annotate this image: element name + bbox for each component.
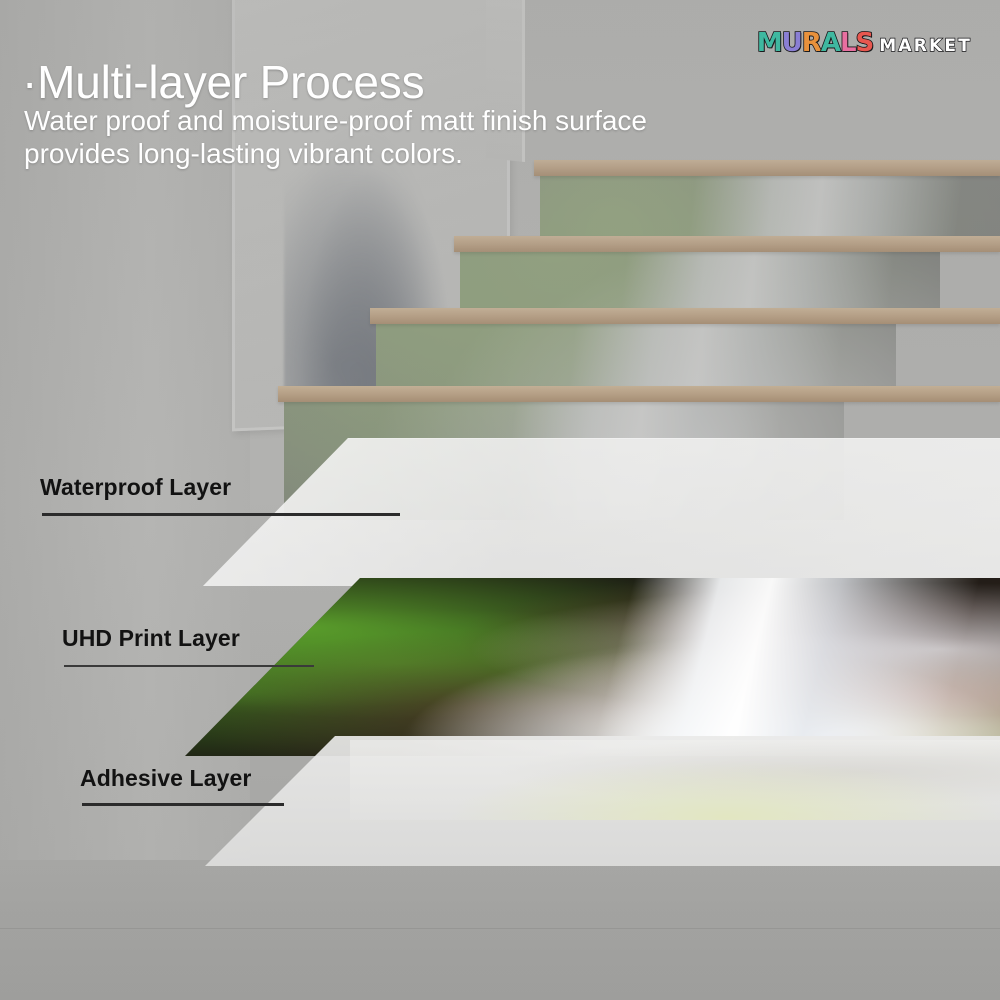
brand-logo-murals: MURALS (757, 30, 873, 56)
logo-letter-2: R (802, 30, 821, 56)
promo-graphic: Waterproof Layer UHD Print Layer Adhesiv… (0, 0, 1000, 1000)
logo-letter-1: U (782, 30, 802, 56)
page-subtitle: Water proof and moisture-proof matt fini… (24, 104, 647, 170)
page-title: ·Multi-layer Process (22, 55, 424, 109)
logo-letter-3: A (821, 30, 840, 56)
logo-letter-0: M (757, 30, 782, 56)
logo-letter-4: L (840, 30, 856, 56)
layer-rule-uhd-print (64, 665, 314, 667)
subtitle-line-2: provides long-lasting vibrant colors. (24, 137, 647, 170)
brand-logo-market: MARKET (879, 36, 972, 56)
adhesive-sheen (350, 740, 1000, 820)
logo-letter-5: S (856, 30, 874, 56)
subtitle-line-1: Water proof and moisture-proof matt fini… (24, 104, 647, 137)
brand-logo[interactable]: MURALS MARKET (757, 30, 972, 56)
layer-rule-adhesive (82, 803, 284, 806)
layer-rule-waterproof (42, 513, 400, 516)
layer-slab-adhesive (205, 736, 1000, 866)
layer-label-waterproof: Waterproof Layer (40, 474, 231, 501)
layer-label-adhesive: Adhesive Layer (80, 765, 251, 792)
layer-label-uhd-print: UHD Print Layer (62, 625, 240, 652)
